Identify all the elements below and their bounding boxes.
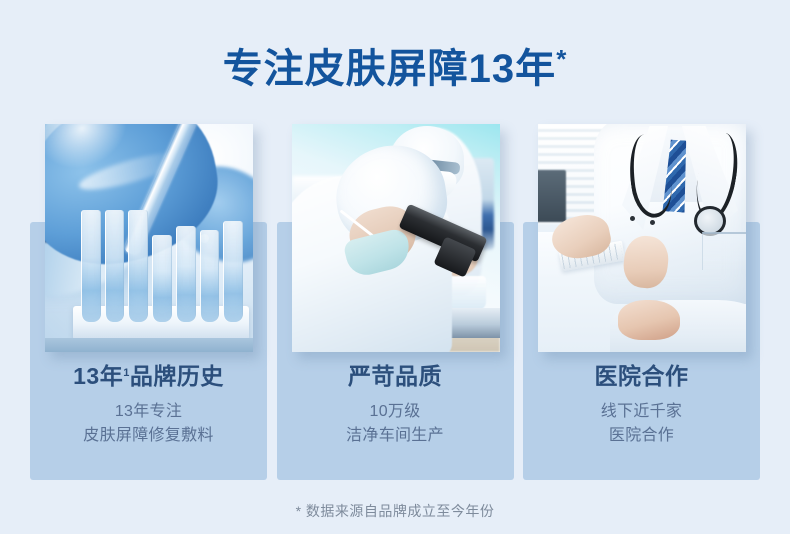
- feature-subtitle: 10万级 洁净车间生产: [277, 400, 514, 447]
- feature-title-main: 严苛品质: [348, 363, 442, 389]
- feature-caption: 13年1品牌历史 13年专注 皮肤屏障修复敷料: [30, 364, 267, 448]
- page-title-text: 专注皮肤屏障13年: [223, 47, 557, 91]
- feature-title: 13年1品牌历史: [30, 364, 267, 389]
- feature-caption: 严苛品质 10万级 洁净车间生产: [277, 364, 514, 448]
- feature-photo-lab-pipette: [45, 124, 253, 352]
- feature-subtitle-line-1: 10万级: [277, 400, 514, 424]
- feature-title-superscript: 1: [123, 367, 130, 379]
- feature-subtitle-line-2: 皮肤屏障修复敷料: [30, 424, 267, 448]
- feature-title: 医院合作: [523, 364, 760, 389]
- feature-title-rest: 品牌历史: [130, 363, 224, 389]
- feature-row: 13年1品牌历史 13年专注 皮肤屏障修复敷料: [30, 124, 760, 480]
- footnote: * 数据来源自品牌成立至今年份: [0, 501, 790, 521]
- feature-title: 严苛品质: [277, 364, 514, 389]
- feature-subtitle-line-1: 线下近千家: [523, 400, 760, 424]
- feature-subtitle-line-2: 医院合作: [523, 424, 760, 448]
- feature-photo-cleanroom-microscope: [292, 124, 500, 352]
- feature-subtitle: 线下近千家 医院合作: [523, 400, 760, 447]
- feature-subtitle-line-2: 洁净车间生产: [277, 424, 514, 448]
- feature-subtitle-line-1: 13年专注: [30, 400, 267, 424]
- feature-title-main: 医院合作: [595, 363, 689, 389]
- page-title-asterisk: *: [556, 44, 567, 74]
- feature-caption: 医院合作 线下近千家 医院合作: [523, 364, 760, 448]
- promo-page: 专注皮肤屏障13年*: [0, 0, 790, 534]
- page-title: 专注皮肤屏障13年*: [0, 46, 790, 89]
- feature-card-hospital-cooperation[interactable]: 医院合作 线下近千家 医院合作: [523, 124, 760, 480]
- feature-title-main: 13年: [73, 363, 123, 389]
- feature-subtitle: 13年专注 皮肤屏障修复敷料: [30, 400, 267, 447]
- feature-card-quality[interactable]: 严苛品质 10万级 洁净车间生产: [277, 124, 514, 480]
- feature-card-brand-history[interactable]: 13年1品牌历史 13年专注 皮肤屏障修复敷料: [30, 124, 267, 480]
- feature-photo-doctor-consultation: [538, 124, 746, 352]
